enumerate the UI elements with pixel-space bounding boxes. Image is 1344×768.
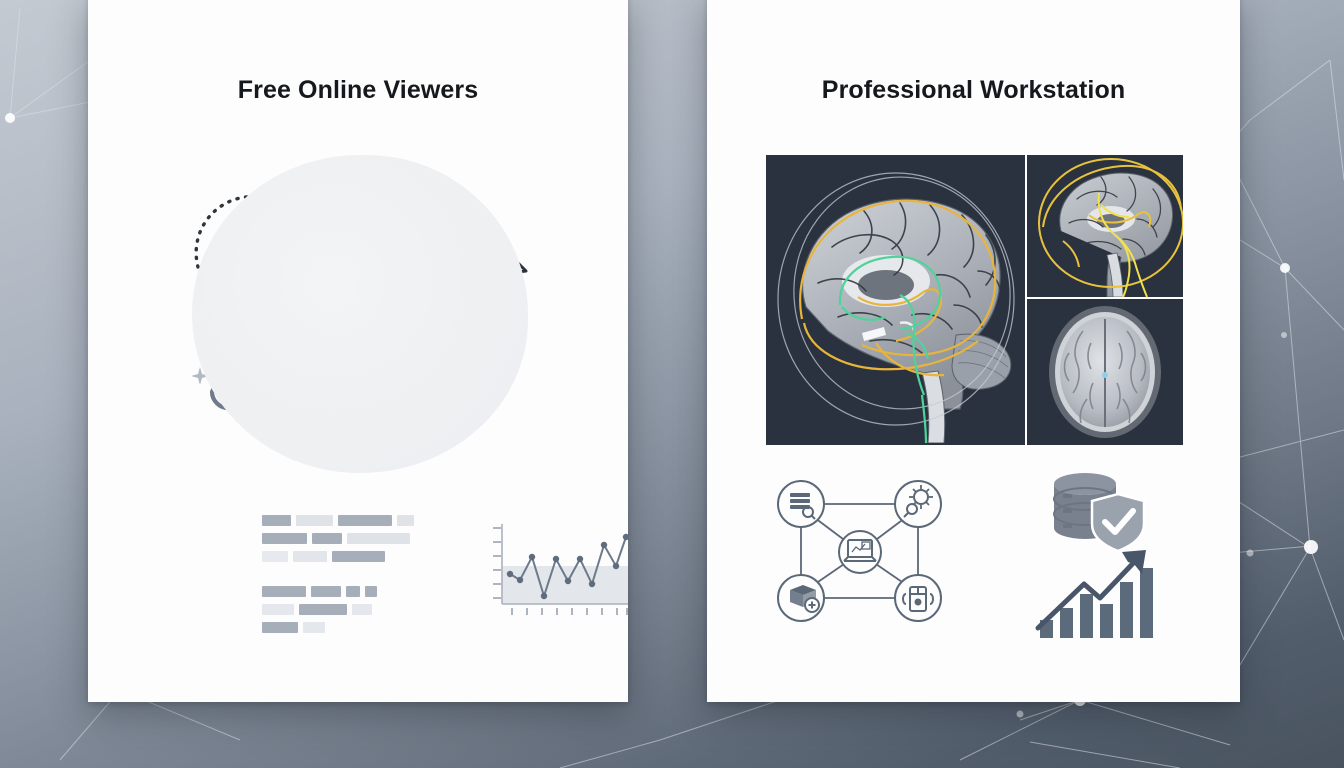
data-network-icon <box>763 468 956 634</box>
chart-x-ticks <box>512 608 627 615</box>
placeholder-bar <box>303 622 325 633</box>
placeholder-row <box>262 586 414 597</box>
placeholder-bar <box>262 604 294 615</box>
page-title: Professional Workstation <box>707 76 1240 105</box>
mri-viewport-grid[interactable] <box>766 155 1181 443</box>
placeholder-bar <box>299 604 347 615</box>
mri-sagittal-small[interactable] <box>1027 155 1183 297</box>
placeholder-bar <box>397 515 414 526</box>
placeholder-bar <box>338 515 391 526</box>
card-free-online-viewers[interactable]: Free Online Viewers <box>88 0 628 702</box>
placeholder-bar <box>262 551 288 562</box>
placeholder-bar <box>262 622 298 633</box>
chart-y-ticks <box>493 528 501 598</box>
placeholder-text-block <box>262 515 414 607</box>
card-professional-workstation[interactable]: Professional Workstation <box>707 0 1240 702</box>
placeholder-row <box>262 533 414 544</box>
mri-sagittal-main[interactable] <box>766 155 1025 445</box>
brain-illustration <box>184 149 532 479</box>
placeholder-bar <box>346 586 360 597</box>
thalamus <box>858 270 914 300</box>
placeholder-bar <box>312 533 342 544</box>
roi-point <box>1102 372 1108 378</box>
database-shield-icon <box>1037 466 1157 552</box>
placeholder-row <box>262 515 414 526</box>
chart-band <box>502 566 628 604</box>
placeholder-bar <box>365 586 377 597</box>
mini-line-chart <box>486 518 628 622</box>
placeholder-bar <box>293 551 327 562</box>
placeholder-bar <box>332 551 385 562</box>
placeholder-row <box>262 622 414 633</box>
growth-chart-icon <box>1034 542 1156 642</box>
placeholder-bar <box>262 515 291 526</box>
placeholder-bar <box>262 533 307 544</box>
placeholder-row <box>262 604 414 615</box>
page-title: Free Online Viewers <box>88 76 628 105</box>
placeholder-bar <box>296 515 333 526</box>
growth-bars <box>1040 568 1153 638</box>
placeholder-bar <box>311 586 341 597</box>
placeholder-row <box>262 551 414 562</box>
mri-axial[interactable] <box>1027 299 1183 445</box>
placeholder-bar <box>352 604 372 615</box>
placeholder-bar <box>347 533 410 544</box>
hero-blob-background <box>192 155 528 473</box>
placeholder-bar <box>262 586 306 597</box>
